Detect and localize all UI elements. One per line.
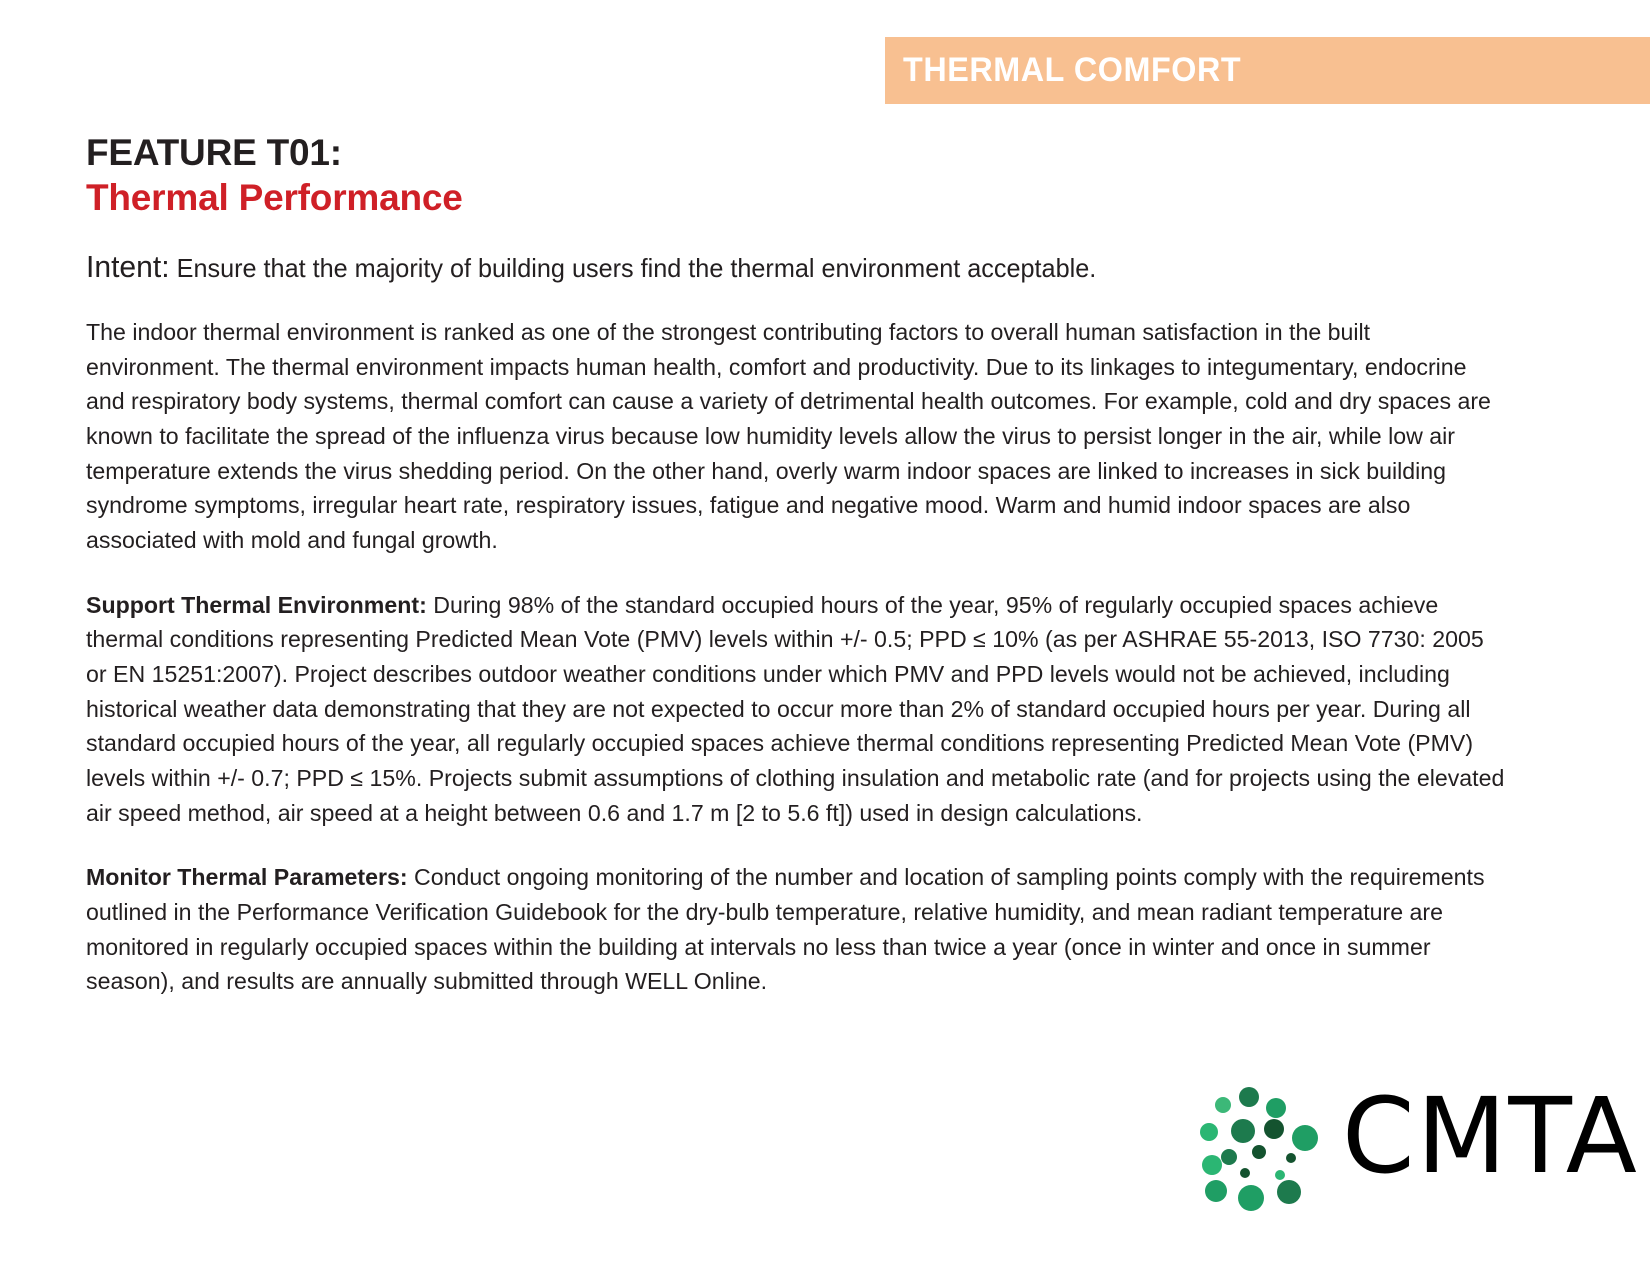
feature-title: Thermal Performance [86, 175, 1526, 220]
intent-text: Ensure that the majority of building use… [177, 253, 1097, 283]
support-thermal-environment-label: Support Thermal Environment: [86, 592, 427, 618]
cmta-dot-cluster-icon [1190, 1072, 1340, 1212]
monitor-thermal-parameters-label: Monitor Thermal Parameters: [86, 864, 408, 890]
monitor-thermal-parameters-paragraph: Monitor Thermal Parameters: Conduct ongo… [86, 860, 1504, 999]
support-thermal-environment-paragraph: Support Thermal Environment: During 98% … [86, 588, 1504, 831]
intent-statement: Intent: Ensure that the majority of buil… [86, 248, 1483, 287]
overview-paragraph: The indoor thermal environment is ranked… [86, 315, 1504, 558]
section-header-title: THERMAL COMFORT [885, 51, 1241, 90]
section-header-banner: THERMAL COMFORT [885, 37, 1650, 104]
company-logo: CMTA [1190, 1072, 1550, 1212]
document-content: FEATURE T01: Thermal Performance Intent:… [86, 130, 1526, 1022]
intent-label: Intent: [86, 249, 170, 284]
feature-number-label: FEATURE T01: [86, 130, 1526, 175]
logo-wordmark: CMTA [1342, 1084, 1639, 1188]
support-thermal-environment-text: During 98% of the standard occupied hour… [86, 592, 1504, 826]
